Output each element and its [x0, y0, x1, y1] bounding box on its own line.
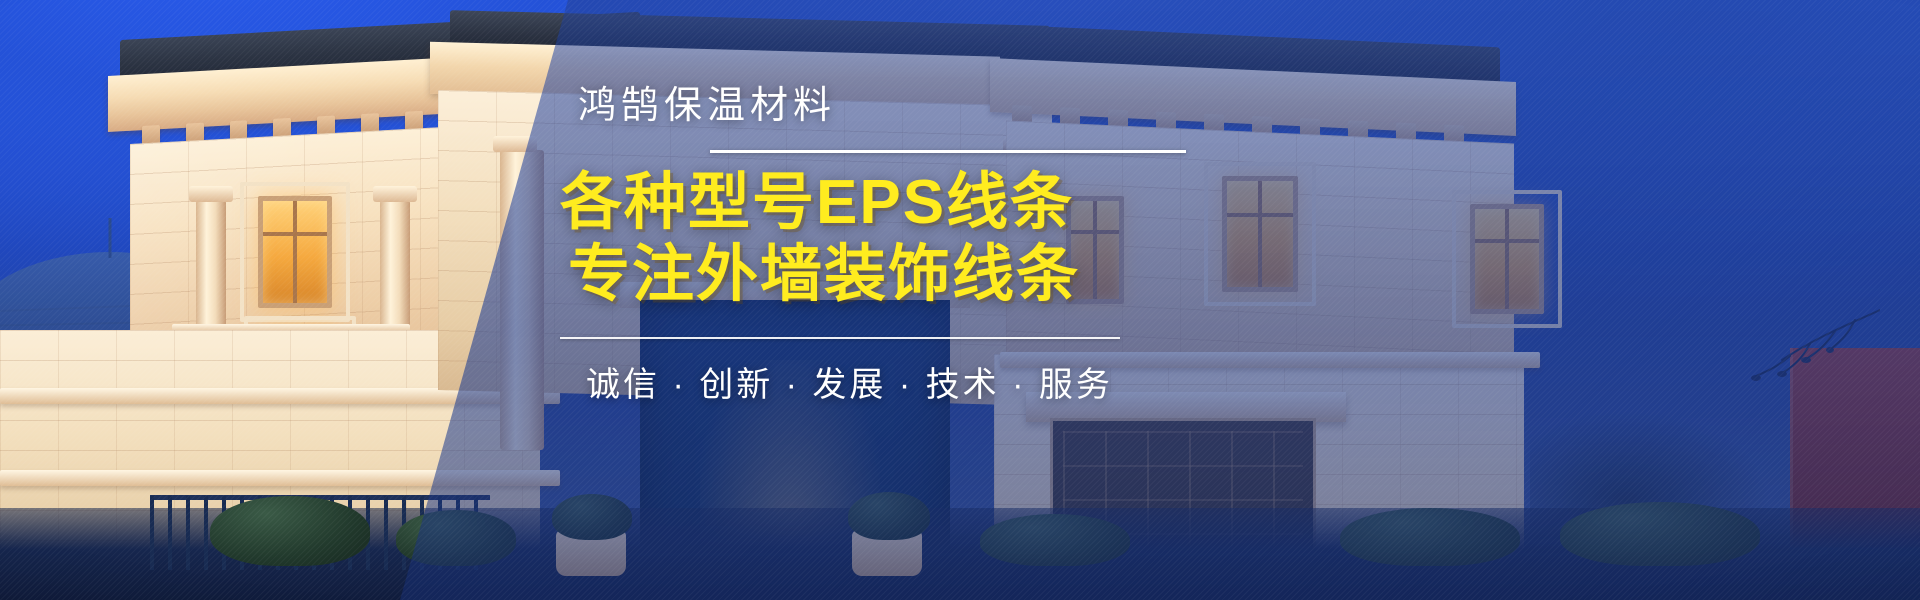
- tagline: 诚信 · 创新 · 发展 · 技术 · 服务: [560, 357, 1340, 406]
- window-surround: [240, 182, 350, 322]
- headline-line-1: 各种型号EPS线条: [560, 167, 1340, 239]
- brand-name: 鸿鹄保温材料: [560, 86, 1340, 128]
- banner-copy: 鸿鹄保温材料 各种型号EPS线条 专注外墙装饰线条 诚信 · 创新 · 发展 ·…: [560, 86, 1340, 406]
- divider-bottom: [560, 337, 1120, 339]
- shrub: [210, 496, 370, 566]
- headline-line-2: 专注外墙装饰线条: [560, 239, 1340, 311]
- promo-banner: 鸿鹄保温材料 各种型号EPS线条 专注外墙装饰线条 诚信 · 创新 · 发展 ·…: [0, 0, 1920, 600]
- divider-top: [710, 150, 1186, 153]
